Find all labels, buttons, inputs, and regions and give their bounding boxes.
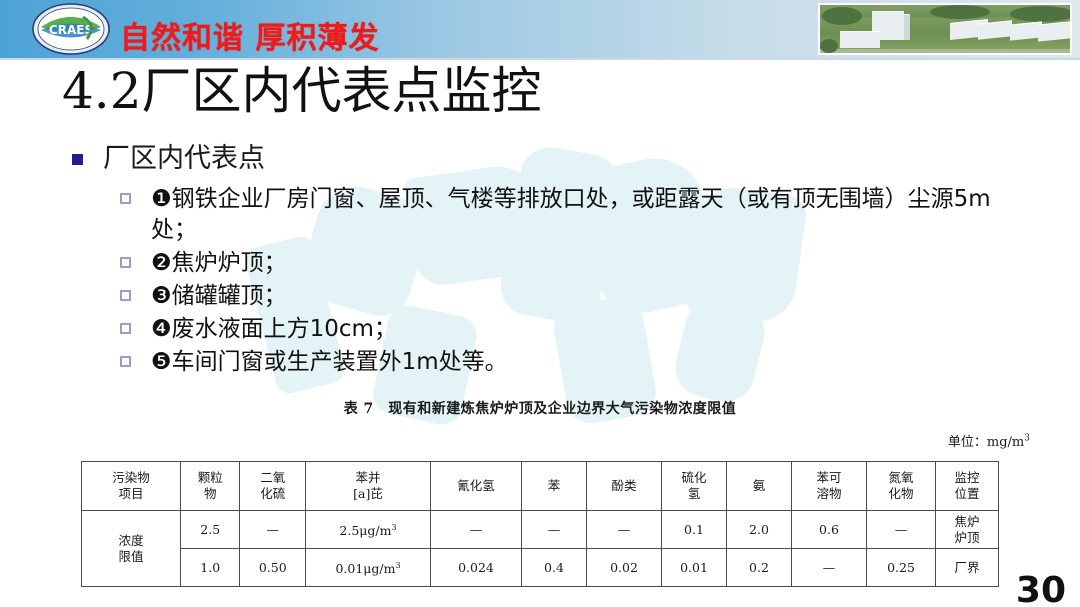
cell-hydrogen-sulfide: 0.1 xyxy=(662,511,727,549)
cell-particulate: 2.5 xyxy=(181,511,240,549)
filled-square-bullet-icon xyxy=(72,154,83,165)
slide: CRAES 自然和谐 厚积薄发 4.2厂区内代表点监控 厂区内代表点 ❶钢铁企业… xyxy=(0,0,1080,607)
cell-superscript: 3 xyxy=(391,523,396,532)
list-item-label: ❹废水液面上方10cm； xyxy=(151,314,397,345)
row-header-concentration-limit: 浓度 限值 xyxy=(82,511,181,587)
table-header-row: 污染物 项目 颗粒 物 二氧 化硫 苯并 [a]芘 氰化氢 苯 酚类 硫化 氢 … xyxy=(82,462,999,511)
cell-benzene-soluble: — xyxy=(792,549,867,587)
campus-aerial-photo xyxy=(818,3,1072,55)
unit-value: mg/m xyxy=(987,435,1024,450)
table-row: 浓度 限值 2.5 — 2.5μg/m3 — — — 0.1 2.0 0.6 —… xyxy=(82,511,999,549)
cell-benzene: — xyxy=(522,511,587,549)
cell-hydrogen-cyanide: — xyxy=(431,511,522,549)
main-bullet: 厂区内代表点 xyxy=(72,143,265,175)
hollow-square-bullet-icon xyxy=(120,356,131,367)
col-header-benzene: 苯 xyxy=(522,462,587,511)
list-item-label: ❶钢铁企业厂房门窗、屋顶、气楼等排放口处，或距露天（或有顶无围墙）尘源5m处； xyxy=(151,184,1020,246)
header-slogan: 自然和谐 厚积薄发 xyxy=(120,13,379,57)
list-item-label: ❺车间门窗或生产装置外1m处等。 xyxy=(151,347,508,378)
list-item-label: ❷焦炉炉顶； xyxy=(151,248,287,279)
col-header-benzene-soluble: 苯可 溶物 xyxy=(792,462,867,511)
pollutant-limits-table: 污染物 项目 颗粒 物 二氧 化硫 苯并 [a]芘 氰化氢 苯 酚类 硫化 氢 … xyxy=(81,461,999,587)
cell-hydrogen-sulfide: 0.01 xyxy=(662,549,727,587)
svg-text:CRAES: CRAES xyxy=(49,23,93,37)
hollow-square-bullet-icon xyxy=(120,193,131,204)
cell-monitoring-location: 厂界 xyxy=(936,549,999,587)
page-number: 30 xyxy=(1016,570,1066,607)
col-header-phenols: 酚类 xyxy=(587,462,662,511)
cell-ammonia: 2.0 xyxy=(727,511,792,549)
craes-logo-icon: CRAES xyxy=(31,3,111,56)
list-item: ❶钢铁企业厂房门窗、屋顶、气楼等排放口处，或距露天（或有顶无围墙）尘源5m处； xyxy=(120,184,1020,246)
list-item: ❹废水液面上方10cm； xyxy=(120,314,1020,345)
col-header-nox: 氮氧 化物 xyxy=(867,462,936,511)
cell-benzene: 0.4 xyxy=(522,549,587,587)
cell-so2: — xyxy=(240,511,306,549)
hollow-square-bullet-icon xyxy=(120,290,131,301)
page-title: 4.2厂区内代表点监控 xyxy=(62,58,542,124)
col-header-benzo-a-pyrene: 苯并 [a]芘 xyxy=(306,462,431,511)
cell-benzo-a-pyrene: 2.5μg/m3 xyxy=(306,511,431,549)
col-header-monitoring-location: 监控 位置 xyxy=(936,462,999,511)
cell-monitoring-location: 焦炉 炉顶 xyxy=(936,511,999,549)
cell-ammonia: 0.2 xyxy=(727,549,792,587)
cell-phenols: — xyxy=(587,511,662,549)
cell-nox: — xyxy=(867,511,936,549)
col-header-so2: 二氧 化硫 xyxy=(240,462,306,511)
unit-superscript: 3 xyxy=(1024,434,1030,444)
col-header-pollutant: 污染物 项目 xyxy=(82,462,181,511)
hollow-square-bullet-icon xyxy=(120,257,131,268)
table-caption: 表 7 现有和新建炼焦炉炉顶及企业边界大气污染物浓度限值 xyxy=(0,398,1080,418)
col-header-hydrogen-cyanide: 氰化氢 xyxy=(431,462,522,511)
cell-benzo-a-pyrene: 0.01μg/m3 xyxy=(306,549,431,587)
col-header-particulate: 颗粒 物 xyxy=(181,462,240,511)
col-header-ammonia: 氨 xyxy=(727,462,792,511)
cell-so2: 0.50 xyxy=(240,549,306,587)
unit-label: 单位： xyxy=(948,435,987,450)
cell-phenols: 0.02 xyxy=(587,549,662,587)
cell-hydrogen-cyanide: 0.024 xyxy=(431,549,522,587)
cell-nox: 0.25 xyxy=(867,549,936,587)
table-unit-note: 单位：mg/m3 xyxy=(948,431,1030,450)
cell-superscript: 3 xyxy=(395,561,400,570)
list-item: ❷焦炉炉顶； xyxy=(120,248,1020,279)
list-item: ❸储罐罐顶； xyxy=(120,281,1020,312)
cell-benzene-soluble: 0.6 xyxy=(792,511,867,549)
list-item-label: ❸储罐罐顶； xyxy=(151,281,287,312)
list-item: ❺车间门窗或生产装置外1m处等。 xyxy=(120,347,1020,378)
hollow-square-bullet-icon xyxy=(120,323,131,334)
main-bullet-label: 厂区内代表点 xyxy=(103,143,265,175)
cell-particulate: 1.0 xyxy=(181,549,240,587)
table-row: 1.0 0.50 0.01μg/m3 0.024 0.4 0.02 0.01 0… xyxy=(82,549,999,587)
col-header-hydrogen-sulfide: 硫化 氢 xyxy=(662,462,727,511)
sub-bullet-list: ❶钢铁企业厂房门窗、屋顶、气楼等排放口处，或距露天（或有顶无围墙）尘源5m处； … xyxy=(120,184,1020,380)
